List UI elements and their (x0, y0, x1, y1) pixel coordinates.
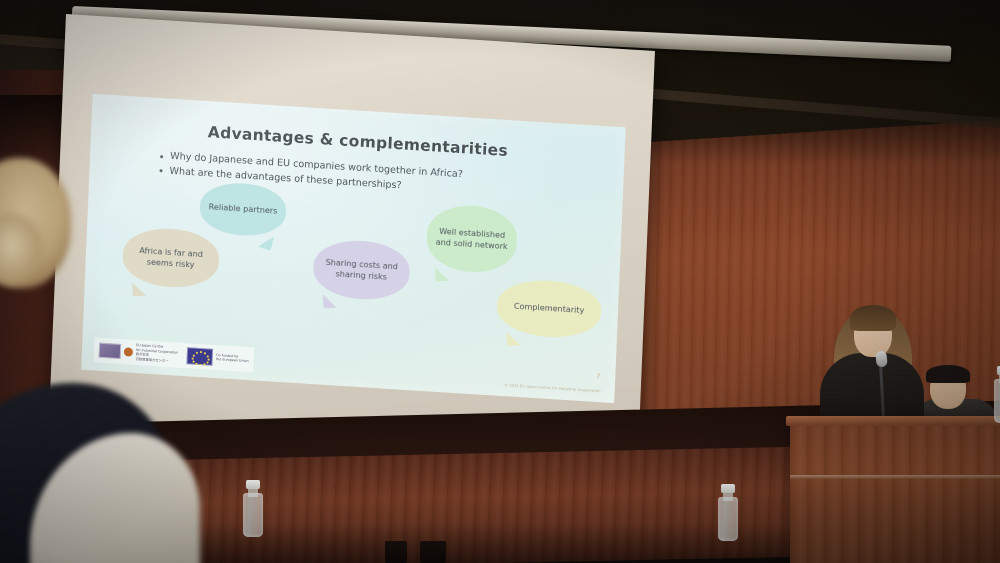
bubble-text: Well established and solid network (427, 225, 518, 254)
bubble-complementarity: Complementarity (496, 278, 602, 340)
eu-japan-emblem-icon (99, 343, 122, 359)
podium-seam (790, 475, 1000, 479)
eu-japan-centre-text: EU-Japan Centre for Industrial Cooperati… (135, 343, 178, 365)
wooden-podium (790, 423, 1000, 563)
table-object (420, 541, 446, 563)
podium-microphone (875, 350, 888, 367)
table-object (385, 541, 407, 563)
bubble-reliable-partners: Reliable partners (199, 181, 287, 238)
slide-logo-bar: EU-Japan Centre for Industrial Cooperati… (93, 337, 254, 372)
japan-sun-icon (124, 347, 133, 357)
bubble-text: Africa is far and seems risky (122, 244, 219, 273)
podium-top-edge (786, 416, 1000, 426)
bubble-well-established-network: Well established and solid network (426, 203, 519, 275)
bubble-africa-far-risky: Africa is far and seems risky (122, 226, 220, 290)
water-bottle-table-left (243, 481, 263, 537)
bubble-text: Reliable partners (202, 201, 283, 218)
seated-panelist-hair (926, 365, 970, 383)
water-bottle-podium (994, 367, 1000, 423)
eu-flag-icon (187, 347, 214, 366)
conference-room-photo: Advantages & complementarities Why do Ja… (0, 0, 1000, 563)
bullet-dot-icon (159, 170, 162, 173)
slide-footer-text: © 2024 EU-Japan Centre for Industrial Co… (504, 383, 600, 393)
bullet-dot-icon (160, 155, 163, 158)
eu-funding-logo: Co-funded by the European Union (187, 347, 249, 368)
eu-funding-text: Co-funded by the European Union (216, 353, 249, 365)
presenter-hair-top (850, 305, 896, 331)
bubble-text: Sharing costs and sharing risks (313, 256, 410, 285)
slide-page-number: 7 (596, 373, 600, 380)
bubble-text: Complementarity (508, 301, 591, 318)
water-bottle-table-right (718, 485, 738, 541)
presentation-slide: Advantages & complementarities Why do Ja… (81, 94, 626, 403)
bubble-sharing-costs-risks: Sharing costs and sharing risks (312, 238, 410, 302)
eu-japan-centre-logo: EU-Japan Centre for Industrial Cooperati… (99, 341, 179, 365)
